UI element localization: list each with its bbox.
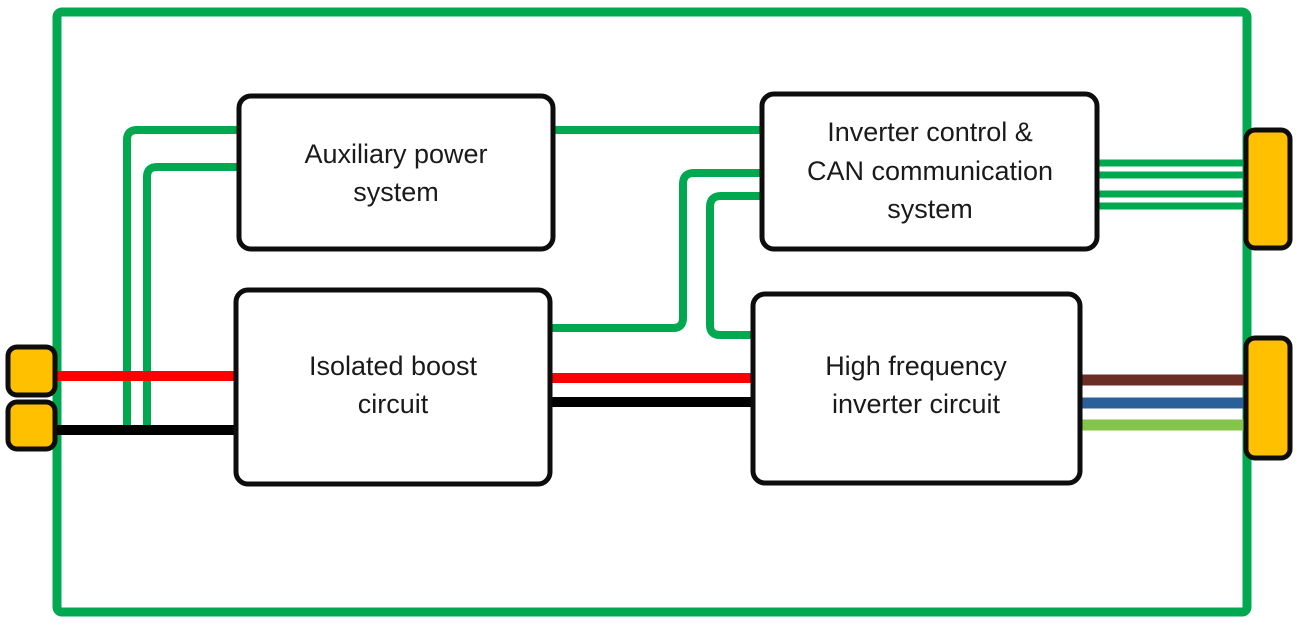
block-inverter-control-can[interactable]: Inverter control & CAN communication sys…	[762, 94, 1097, 249]
block-inverter-control-can-label-line-1: Inverter control &	[827, 117, 1033, 147]
connector-right-output[interactable]	[1246, 338, 1290, 458]
block-isolated-boost-circuit-label-line-1: Isolated boost	[309, 351, 478, 381]
block-high-frequency-inverter-circuit-label-line-1: High frequency	[825, 351, 1007, 381]
block-auxiliary-power-system[interactable]: Auxiliary power system	[239, 96, 553, 249]
block-inverter-control-can-label-line-2: CAN communication	[807, 156, 1053, 186]
connector-right-communication[interactable]	[1246, 130, 1290, 248]
block-isolated-boost-circuit[interactable]: Isolated boost circuit	[236, 290, 550, 484]
connector-left-positive[interactable]	[8, 347, 55, 395]
block-high-frequency-inverter-circuit[interactable]: High frequency inverter circuit	[753, 294, 1080, 483]
block-inverter-control-can-label-line-3: system	[887, 194, 973, 224]
block-auxiliary-power-system-body	[239, 96, 553, 249]
block-isolated-boost-circuit-body	[236, 290, 550, 484]
block-isolated-boost-circuit-label-line-2: circuit	[358, 389, 429, 419]
wire-aux-power-feed-lower	[147, 167, 239, 430]
block-auxiliary-power-system-label-line-2: system	[353, 177, 439, 207]
block-diagram-svg: Auxiliary power system Inverter control …	[0, 0, 1300, 626]
block-high-frequency-inverter-circuit-label-line-2: inverter circuit	[832, 389, 1001, 419]
block-auxiliary-power-system-label-line-1: Auxiliary power	[304, 139, 487, 169]
connector-left-negative[interactable]	[8, 402, 55, 449]
diagram-canvas: Auxiliary power system Inverter control …	[0, 0, 1300, 626]
